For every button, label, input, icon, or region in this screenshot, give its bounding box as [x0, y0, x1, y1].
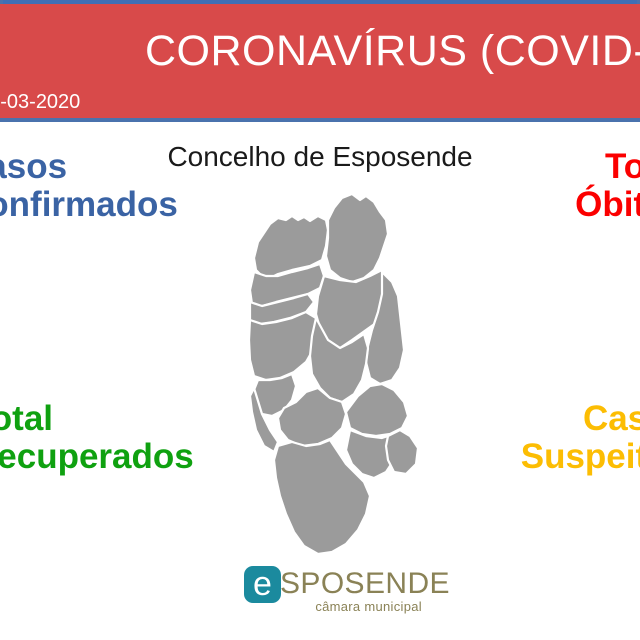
header-banner: CORONAVÍRUS (COVID-19) 24-03-2020	[0, 4, 640, 118]
stat-deaths-value: 0	[575, 234, 640, 306]
stat-suspect-label-line2: Suspeitos	[521, 438, 640, 476]
stat-recovered-value: 0	[0, 486, 194, 558]
logo-mark-letter: e	[244, 566, 281, 603]
header-bottom-rule	[0, 118, 640, 122]
stat-suspect-label-line1: Casos	[521, 400, 640, 438]
report-date: 24-03-2020	[0, 92, 80, 112]
map-parish-se-lobe	[386, 430, 418, 474]
stat-confirmed-label-line1: Casos	[0, 148, 178, 186]
logo-wordmark: SPOSENDE	[280, 569, 450, 599]
infographic-page: CORONAVÍRUS (COVID-19) 24-03-2020 Concel…	[0, 0, 640, 640]
esposende-municipality-map	[248, 190, 420, 558]
stat-deaths-label-line2: Óbitos	[575, 186, 640, 224]
stat-total-deaths: Total Óbitos 0	[575, 148, 640, 306]
stat-confirmed-label-line2: Confirmados	[0, 186, 178, 224]
map-parish-central-west	[249, 312, 318, 380]
esposende-logo: e SPOSENDE câmara municipal	[244, 564, 422, 618]
stat-total-recovered: Total Recuperados 0	[0, 400, 194, 558]
map-svg	[248, 190, 420, 558]
stat-deaths-label-line1: Total	[575, 148, 640, 186]
stat-suspect-cases: Casos Suspeitos 0	[521, 400, 640, 558]
stat-recovered-label-line1: Total	[0, 400, 194, 438]
map-parish-ne	[326, 194, 388, 282]
logo-subtitle: câmara municipal	[306, 600, 422, 613]
stat-confirmed-value: 5	[0, 234, 178, 306]
page-title: CORONAVÍRUS (COVID-19)	[145, 30, 640, 73]
stat-suspect-value: 0	[521, 486, 640, 558]
stat-confirmed-cases: Casos Confirmados 5	[0, 148, 178, 306]
stat-recovered-label-line2: Recuperados	[0, 438, 194, 476]
